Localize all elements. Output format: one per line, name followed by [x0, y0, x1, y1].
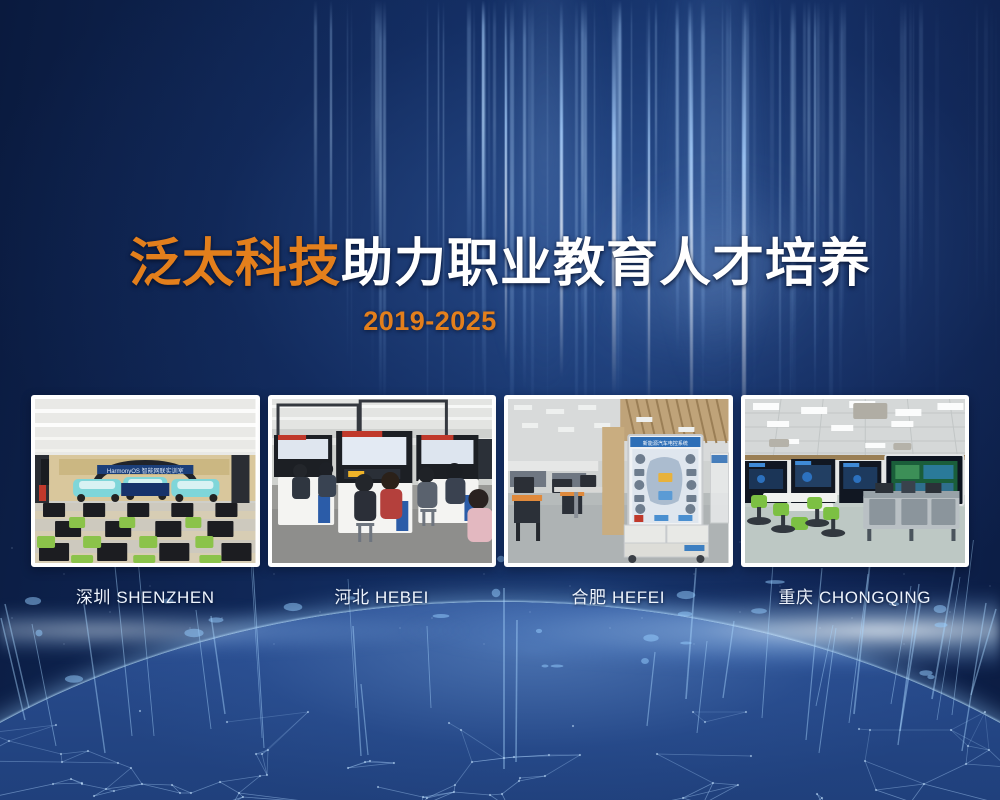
gallery-photo-chongqing[interactable]: [741, 395, 970, 567]
light-streak: [872, 0, 874, 421]
light-streak: [427, 0, 428, 453]
caption-hefei: 合肥 HEFEI: [504, 583, 733, 609]
glow-column-right: [640, 0, 790, 430]
photo-scene-smart-vehicle-classroom: HarmonyOS 智能网联实训室: [35, 399, 256, 563]
light-streak: [594, 0, 595, 445]
gallery-photo-hefei[interactable]: 新能源汽车电控系统: [504, 395, 733, 567]
light-streak: [584, 0, 587, 421]
light-streak: [618, 0, 622, 399]
light-streak: [829, 0, 833, 458]
light-streak: [351, 0, 352, 404]
light-streak: [375, 0, 379, 258]
photo-scene-smart-manufacturing-lab: [745, 399, 966, 563]
network-mesh-icon: [0, 540, 1000, 800]
light-streak: [867, 0, 871, 408]
light-streak: [547, 0, 549, 429]
light-streak: [438, 0, 439, 263]
glow-column-left: [470, 0, 620, 430]
caption-shenzhen: 深圳 SHENZHEN: [31, 583, 260, 609]
light-streak: [383, 0, 386, 414]
light-streak: [482, 0, 485, 257]
light-streak: [814, 0, 816, 408]
light-streak: [814, 0, 816, 411]
light-streak: [676, 0, 679, 353]
photo-gallery: HarmonyOS 智能网联实训室: [31, 395, 969, 567]
vertical-data-rays-icon: [0, 540, 1000, 800]
light-streak: [779, 0, 781, 459]
headline-brand-text: 泛太科技: [129, 235, 341, 293]
photo-captions-row: 深圳 SHENZHEN 河北 HEBEI 合肥 HEFEI 重庆 CHONGQI…: [31, 583, 969, 609]
light-streak: [488, 0, 490, 255]
headline-rest-text: 助力职业教育人才培养: [341, 235, 871, 293]
gallery-photo-shenzhen[interactable]: HarmonyOS 智能网联实训室: [31, 395, 260, 567]
caption-hebei: 河北 HEBEI: [268, 583, 497, 609]
globe-horizon-decoration: [0, 540, 1000, 800]
light-streak: [314, 0, 317, 272]
light-streak: [935, 0, 939, 454]
light-streak: [616, 0, 619, 402]
light-streak: [744, 0, 747, 270]
light-streak: [844, 0, 847, 271]
light-streak: [655, 0, 658, 263]
svg-text:新能源汽车电控系统: 新能源汽车电控系统: [643, 440, 688, 447]
promo-banner: 泛太科技助力职业教育人才培养 2019-2025 HarmonyOS 智能网联实…: [0, 0, 1000, 800]
light-streak-bright: [648, 0, 650, 414]
light-streak: [808, 0, 811, 265]
photo-scene-electrical-training-workstations: [272, 399, 493, 563]
globe-sphere: [0, 602, 1000, 800]
light-streak: [729, 0, 731, 427]
light-streak: [619, 0, 621, 254]
light-streak: [803, 0, 805, 266]
light-streak: [379, 0, 382, 405]
light-streak: [995, 0, 997, 413]
light-streak: [702, 0, 705, 414]
banner-headline: 泛太科技助力职业教育人才培养: [0, 233, 1000, 295]
light-streak: [839, 0, 842, 417]
light-streak: [484, 0, 486, 450]
light-streak: [510, 0, 514, 445]
photo-scene-automotive-display-lab: 新能源汽车电控系统: [508, 399, 729, 563]
light-streak: [443, 0, 445, 457]
light-streak: [631, 0, 632, 251]
year-range-label: 2019-2025: [0, 306, 1000, 337]
light-streak: [531, 0, 534, 441]
light-streak: [792, 0, 796, 436]
light-streak: [753, 0, 756, 415]
svg-text:HarmonyOS 智能网联实训室: HarmonyOS 智能网联实训室: [107, 467, 184, 475]
light-streak: [865, 0, 868, 348]
light-streak-bright: [742, 0, 746, 450]
gallery-photo-hebei[interactable]: [268, 395, 497, 567]
light-streak-bright: [690, 0, 693, 432]
caption-chongqing: 重庆 CHONGQING: [741, 583, 970, 609]
light-streak: [473, 0, 476, 434]
light-streak: [968, 0, 970, 459]
light-streak: [575, 0, 578, 459]
light-streak: [816, 0, 819, 258]
